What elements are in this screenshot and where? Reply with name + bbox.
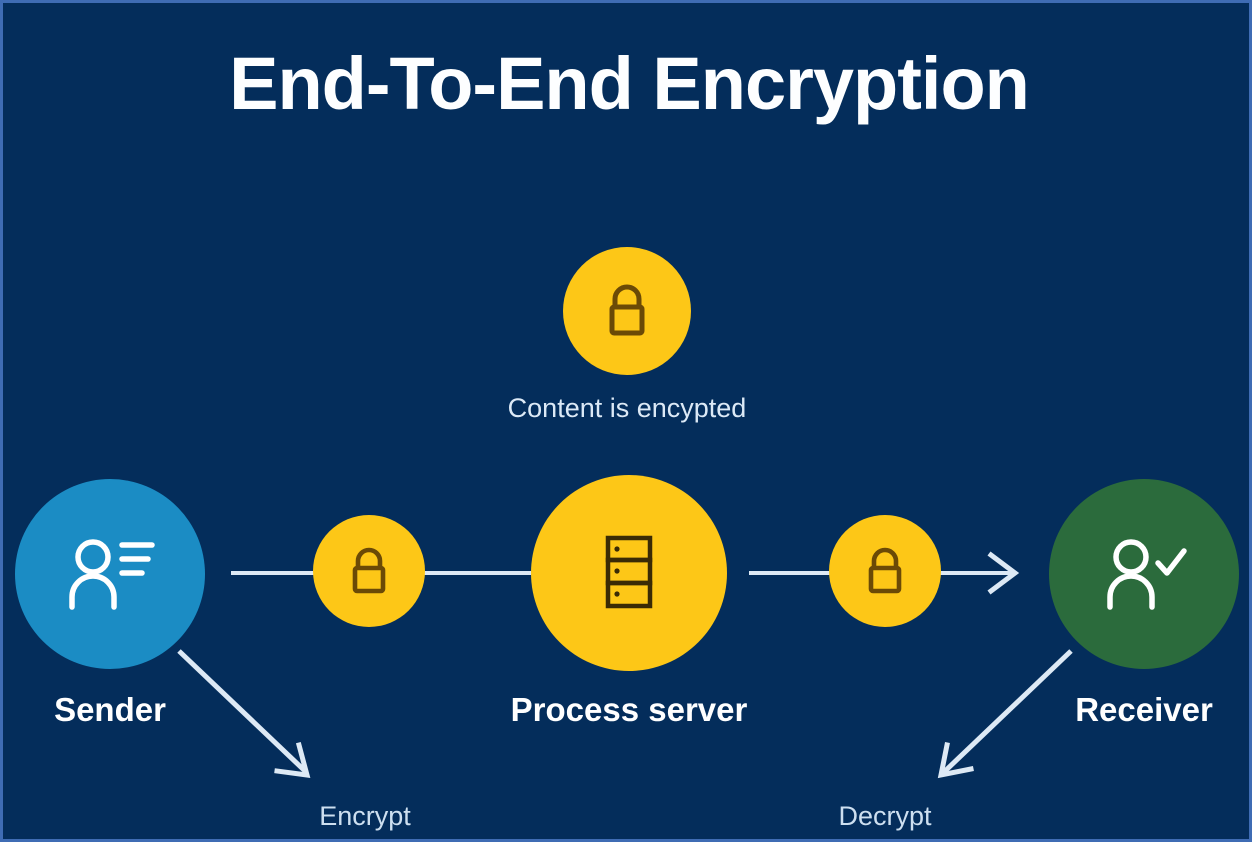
padlock-icon: [862, 544, 908, 598]
process-server-node: [531, 475, 727, 671]
process-server-caption: Process server: [429, 693, 829, 726]
lock-inbound-node: [829, 515, 941, 627]
connector-lock2-to-receiver: [933, 571, 1011, 575]
lock-outbound-node: [313, 515, 425, 627]
encrypted-content-badge: [563, 247, 691, 375]
decrypt-label: Decrypt: [745, 803, 1025, 830]
person-check-icon: [1098, 535, 1190, 613]
encrypt-label: Encrypt: [225, 803, 505, 830]
connector-lock-to-server: [413, 571, 531, 575]
receiver-node: [1049, 479, 1239, 669]
padlock-icon: [346, 544, 392, 598]
sender-node: [15, 479, 205, 669]
page-title: End-To-End Encryption: [3, 47, 1252, 121]
person-contact-icon: [64, 535, 156, 613]
encrypted-content-caption: Content is encypted: [327, 395, 927, 422]
padlock-icon: [601, 281, 653, 341]
diagram-canvas: End-To-End Encryption Content is encypte…: [0, 0, 1252, 842]
receiver-caption: Receiver: [1049, 693, 1239, 726]
server-rack-icon: [598, 534, 660, 612]
sender-caption: Sender: [15, 693, 205, 726]
